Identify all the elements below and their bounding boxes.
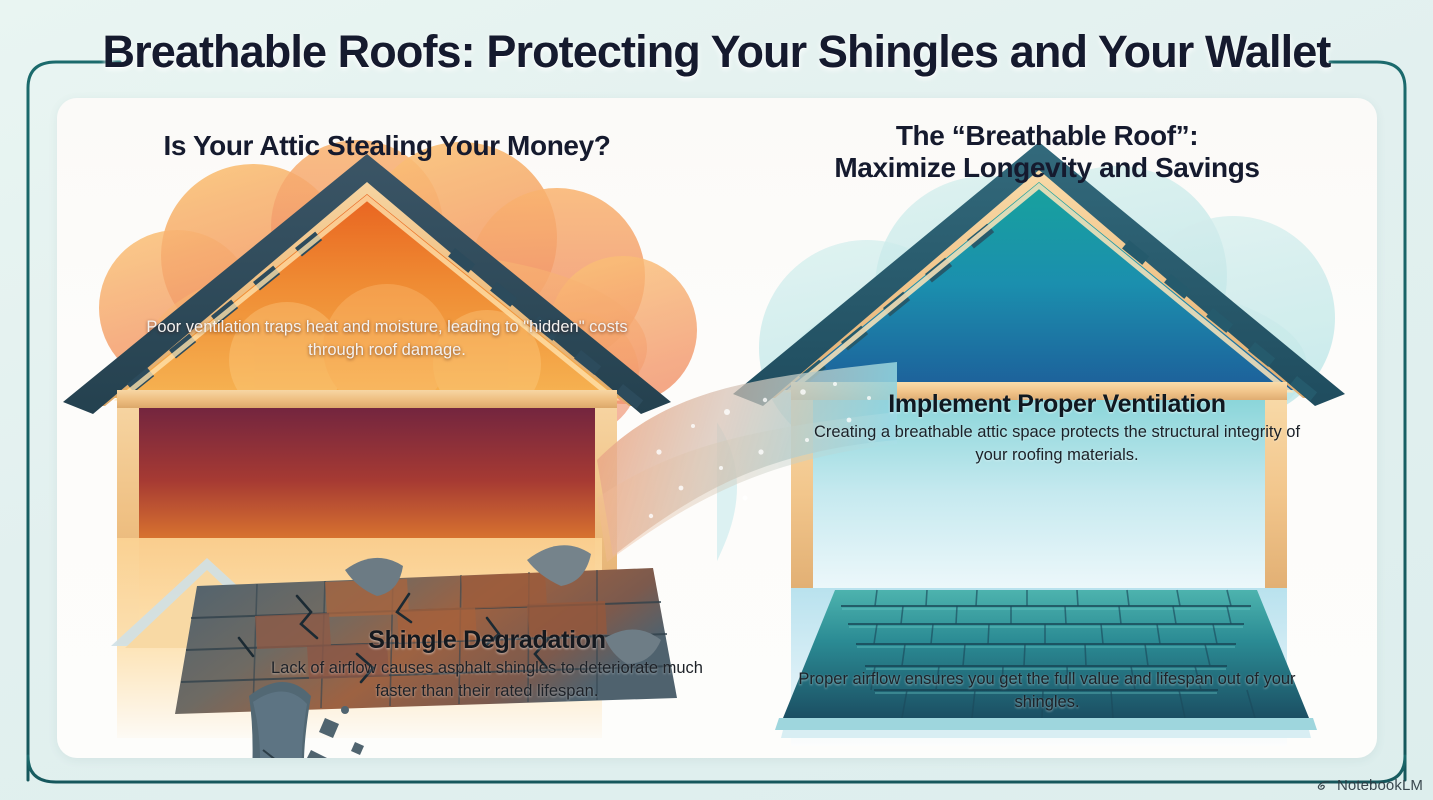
- healthy-shingle-roof: [775, 590, 1317, 738]
- shingle-degradation-title: Shingle Degradation: [257, 626, 717, 655]
- content-card: Is Your Attic Stealing Your Money? Poor …: [57, 98, 1377, 758]
- proper-ventilation-title: Implement Proper Ventilation: [807, 390, 1307, 419]
- panel-problem-headline: Is Your Attic Stealing Your Money?: [57, 130, 717, 162]
- infographic-canvas: Breathable Roofs: Protecting Your Shingl…: [0, 0, 1433, 800]
- panel-solution-headline-line1: The “Breathable Roof”:: [717, 120, 1377, 152]
- frame-header-beam: [117, 390, 617, 408]
- attic-overlay-text: Poor ventilation traps heat and moisture…: [127, 316, 647, 363]
- shingle-degradation-block: Shingle Degradation Lack of airflow caus…: [257, 626, 717, 703]
- shingle-degradation-body: Lack of airflow causes asphalt shingles …: [257, 657, 717, 703]
- panel-solution-headline: The “Breathable Roof”: Maximize Longevit…: [717, 120, 1377, 185]
- airflow-swoosh: [597, 348, 897, 608]
- proper-ventilation-block: Implement Proper Ventilation Creating a …: [807, 390, 1307, 467]
- notebooklm-watermark: NotebookLM: [1315, 777, 1423, 794]
- notebooklm-label: NotebookLM: [1337, 777, 1423, 794]
- airflow-caption: Proper airflow ensures you get the full …: [797, 668, 1297, 714]
- panel-solution-headline-line2: Maximize Longevity and Savings: [717, 152, 1377, 184]
- proper-ventilation-body: Creating a breathable attic space protec…: [807, 421, 1307, 467]
- page-title: Breathable Roofs: Protecting Your Shingl…: [0, 26, 1433, 78]
- notebooklm-spark-icon: [1315, 777, 1332, 794]
- panel-solution: The “Breathable Roof”: Maximize Longevit…: [717, 98, 1377, 758]
